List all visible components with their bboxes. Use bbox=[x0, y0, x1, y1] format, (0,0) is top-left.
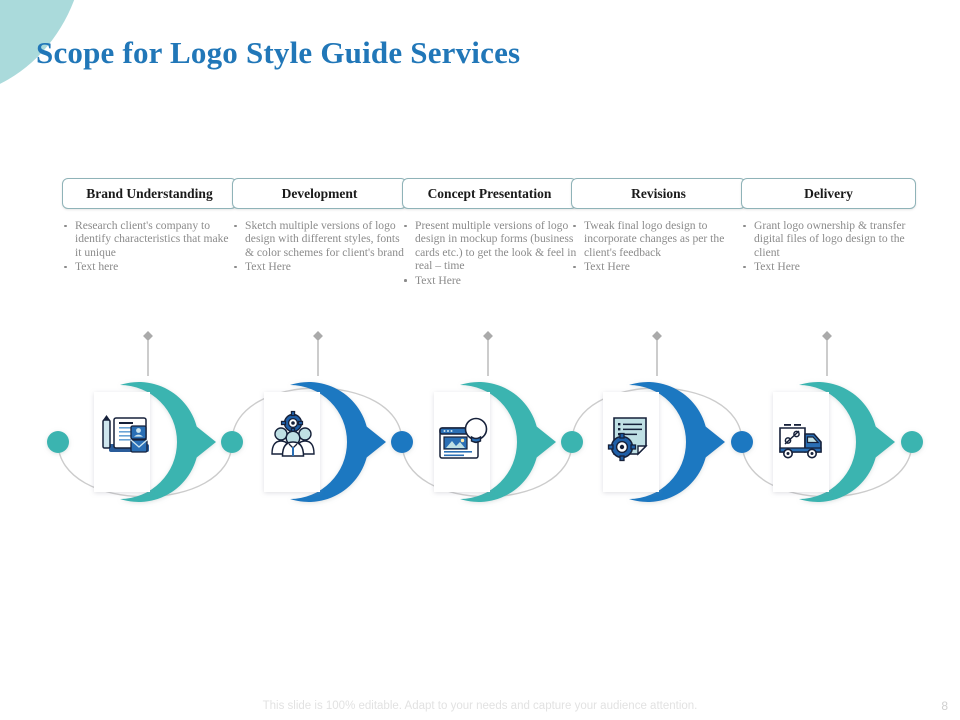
step-column-brand-understanding: Brand Understanding Research client's co… bbox=[62, 178, 237, 275]
process-node-4[interactable] bbox=[603, 382, 725, 502]
step-header-label-1: Development bbox=[282, 186, 358, 202]
step-bullets-0: Research client's company to identify ch… bbox=[62, 219, 237, 274]
slide-canvas: Scope for Logo Style Guide Services Bran… bbox=[0, 0, 960, 720]
connector-dot-3 bbox=[561, 431, 583, 453]
step-column-development: Development Sketch multiple versions of … bbox=[232, 178, 407, 275]
list-item: Research client's company to identify ch… bbox=[62, 219, 237, 259]
step-bullets-4: Grant logo ownership & transfer digital … bbox=[741, 219, 916, 274]
step-header-box-2[interactable]: Concept Presentation bbox=[402, 178, 577, 209]
step-header-label-4: Delivery bbox=[804, 186, 853, 202]
list-item: Grant logo ownership & transfer digital … bbox=[741, 219, 916, 259]
connector-dot-1 bbox=[221, 431, 243, 453]
step-bullets-3: Tweak final logo design to incorporate c… bbox=[571, 219, 746, 274]
footer-note: This slide is 100% editable. Adapt to yo… bbox=[0, 700, 960, 712]
list-item: Text Here bbox=[741, 260, 916, 273]
step-column-revisions: Revisions Tweak final logo design to inc… bbox=[571, 178, 746, 275]
connector-dot-4 bbox=[731, 431, 753, 453]
process-diagram bbox=[0, 330, 960, 540]
connector-diamond-markers bbox=[143, 331, 832, 341]
connector-dot-end bbox=[901, 431, 923, 453]
list-item: Present multiple versions of logo design… bbox=[402, 219, 577, 273]
process-node-3[interactable] bbox=[434, 382, 556, 502]
vertical-connector-lines bbox=[148, 336, 827, 376]
list-item: Text Here bbox=[232, 260, 407, 273]
step-header-box-3[interactable]: Revisions bbox=[571, 178, 746, 209]
step-header-box-4[interactable]: Delivery bbox=[741, 178, 916, 209]
step-header-label-0: Brand Understanding bbox=[86, 186, 212, 202]
page-title: Scope for Logo Style Guide Services bbox=[36, 35, 520, 71]
page-number: 8 bbox=[941, 699, 948, 713]
step-bullets-2: Present multiple versions of logo design… bbox=[402, 219, 577, 287]
step-header-box-1[interactable]: Development bbox=[232, 178, 407, 209]
step-column-concept-presentation: Concept Presentation Present multiple ve… bbox=[402, 178, 577, 288]
step-column-delivery: Delivery Grant logo ownership & transfer… bbox=[741, 178, 916, 275]
process-node-2[interactable] bbox=[264, 382, 386, 502]
steps-text-row: Brand Understanding Research client's co… bbox=[0, 178, 960, 328]
list-item: Text here bbox=[62, 260, 237, 273]
step-header-box-0[interactable]: Brand Understanding bbox=[62, 178, 237, 209]
process-node-5[interactable] bbox=[773, 382, 895, 502]
list-item: Tweak final logo design to incorporate c… bbox=[571, 219, 746, 259]
step-header-label-2: Concept Presentation bbox=[428, 186, 552, 202]
connector-dot-2 bbox=[391, 431, 413, 453]
process-node-1[interactable] bbox=[94, 382, 216, 502]
step-header-label-3: Revisions bbox=[631, 186, 686, 202]
list-item: Text Here bbox=[402, 274, 577, 287]
connector-dot-start bbox=[47, 431, 69, 453]
list-item: Sketch multiple versions of logo design … bbox=[232, 219, 407, 259]
list-item: Text Here bbox=[571, 260, 746, 273]
step-bullets-1: Sketch multiple versions of logo design … bbox=[232, 219, 407, 274]
document-mobile-review-icon bbox=[103, 415, 149, 452]
